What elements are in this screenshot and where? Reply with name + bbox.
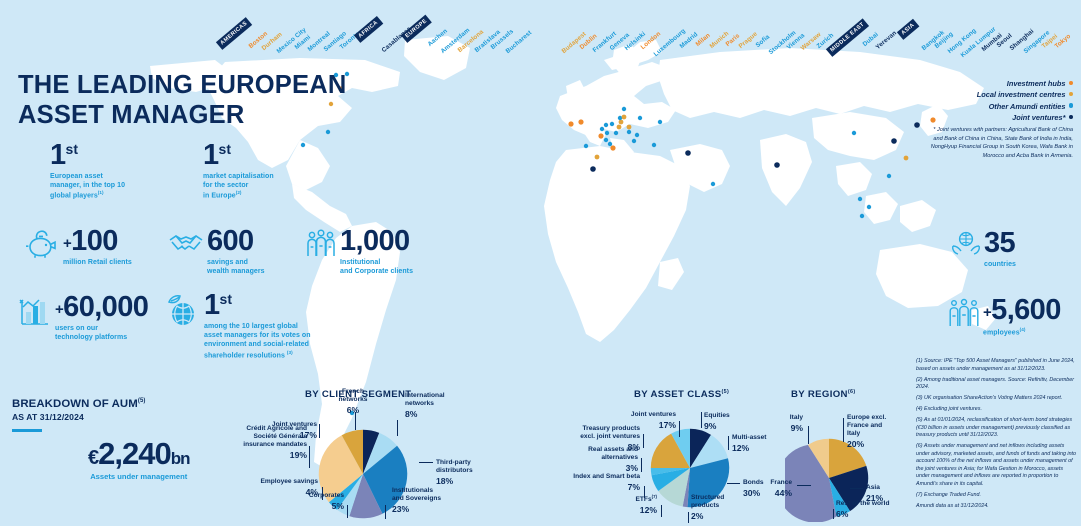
leader-line [319,424,320,438]
city-label: Prague [738,31,759,50]
handshake-icon [168,228,204,263]
leader-line [643,434,644,448]
footnotes: (1) Source: IPE "Top 500 Asset Managers"… [916,358,1078,514]
kpi-label: countries [984,260,1016,269]
kpi-technology-users: +60,000 users on ourtechnology platforms [18,294,148,342]
pie-label-etfs: ETFs(7)12% [609,494,657,515]
leader-line [728,436,729,450]
legend-label: Local investment centres [977,90,1066,99]
kpi-label: million Retail clients [63,258,132,267]
pie-label-index-smart-beta: Index and Smart beta7% [558,473,640,492]
kpi-european-asset-manager: 1st European assetmanager, in the top 10… [50,142,125,201]
pie-label-italy: Italy9% [757,414,803,433]
kpi-label: market capitalisationfor the sectorin Eu… [203,172,274,201]
legend-swatch-icon [1069,115,1074,120]
joint-ventures-note: * Joint ventures with partners: Agricult… [923,126,1073,160]
leader-line [641,458,642,472]
aum-total-value: €2,240bn [88,438,189,469]
kpi-employees: +5,600 employees(4) [948,297,1061,337]
footnote-1: (1) Source: IPE "Top 500 Asset Managers"… [916,358,1078,373]
infographic-canvas: AMERICAS Boston Durham Mexico City Miami… [0,0,1081,526]
bar-chart-icon [18,294,52,333]
pie-label-multi-asset: Multi-asset12% [732,434,766,453]
people-group-icon [305,228,337,265]
kpi-value: 1st [50,142,125,169]
leader-line [833,509,834,519]
kpi-value: 1,000 [340,228,413,255]
leader-line [727,483,740,484]
kpi-retail-clients: +100 million Retail clients [24,228,132,267]
aum-breakdown-subtitle: AS AT 31/12/2024 [12,412,145,422]
footnote-6: (6) Assets under management and net infl… [916,443,1078,488]
region-tag-americas: AMERICAS [216,17,252,49]
city-label: Yerevan [875,30,899,51]
employees-icon [948,297,980,334]
aum-total-caption: Assets under management [88,472,189,481]
pie-label-institutionals-sovereigns: Institutionalsand Sovereigns23% [392,487,441,514]
kpi-market-capitalisation: 1st market capitalisationfor the sectori… [203,142,274,201]
pie-label-europe-excl-france-italy: Europe excl.France andItaly20% [847,414,886,449]
source-line: Amundi data as at 31/12/2024. [916,503,1078,511]
kpi-label: users on ourtechnology platforms [55,324,148,343]
pie-label-equities: Equities9% [704,412,730,431]
kpi-label: employees(4) [983,327,1061,338]
page-title-line-1: THE LEADING EUROPEAN [18,70,346,100]
kpi-label: among the 10 largest globalasset manager… [204,322,311,361]
region-tag-asia: ASIA [897,19,919,40]
chart-title-asset-class: BY ASSET CLASS(5) [634,389,729,400]
title-rule [12,429,42,432]
kpi-savings-wealth-managers: 600 savings andwealth managers [168,228,265,276]
kpi-institutional-corporate-clients: 1,000 Institutionaland Corporate clients [305,228,413,276]
page-title: THE LEADING EUROPEAN ASSET MANAGER [18,70,346,130]
legend-item-local-investment-centres: Local investment centres [977,89,1073,100]
city-label-strip: AMERICAS Boston Durham Mexico City Miami… [0,0,1081,58]
kpi-value: +100 [63,228,132,255]
legend-label: Investment hubs [1007,79,1066,88]
leader-line [688,512,689,523]
leader-line [679,421,680,437]
pie-label-joint-ventures-asset: Joint ventures17% [606,411,676,430]
map-legend: Investment hubs Local investment centres… [977,78,1073,124]
leader-line [322,487,323,500]
kpi-label: Institutionaland Corporate clients [340,258,413,277]
pie-label-structured-products: Structuredproducts2% [691,494,724,521]
pie-label-french-networks: Frenchnetworks6% [325,388,381,415]
footnote-2: (2) Among traditional asset managers. So… [916,377,1078,392]
leader-line [644,486,645,498]
leader-line [850,488,863,489]
leader-line [843,418,844,442]
pie-label-joint-ventures-client: Joint ventures17% [247,421,317,440]
aum-total: €2,240bn Assets under management [88,438,189,481]
legend-swatch-icon [1069,92,1074,97]
page-title-line-2: ASSET MANAGER [18,100,346,130]
kpi-label: savings andwealth managers [207,258,265,277]
region-tag-africa: AFRICA [354,16,383,42]
kpi-value: 35 [984,230,1016,257]
footnote-7: (7) Exchange Traded Fund. [916,492,1078,500]
kpi-value: 1st [204,292,311,319]
aum-breakdown-header: BREAKDOWN OF AUM(5) AS AT 31/12/2024 [12,398,145,432]
leader-line [397,420,398,436]
leader-line [701,412,702,428]
leader-line [419,462,433,463]
pie-label-third-party-distributors: Third-partydistributors18% [436,459,473,486]
pie-label-rest-of-the-world: Rest of the world6% [836,500,889,519]
pie-label-international-networks: Internationalnetworks8% [405,392,445,419]
leader-line [661,505,662,517]
piggy-bank-icon [24,228,60,265]
kpi-value: +60,000 [55,294,148,321]
leader-line [309,446,310,468]
pie-label-employee-savings: Employee savings4% [243,478,318,497]
kpi-countries: 35 countries [951,230,1016,269]
pie-label-france: France44% [740,479,792,498]
aum-breakdown-title: BREAKDOWN OF AUM(5) [12,398,145,410]
legend-label: Joint ventures* [1012,113,1065,122]
globe-leaf-icon [163,292,201,333]
chart-title-region: BY REGION(6) [791,389,855,400]
legend-item-joint-ventures: Joint ventures* [977,112,1073,123]
legend-swatch-icon [1069,81,1074,86]
leader-line [347,505,348,518]
legend-item-investment-hubs: Investment hubs [977,78,1073,89]
footnote-4: (4) Excluding joint ventures. [916,406,1078,414]
kpi-esg-voting: 1st among the 10 largest globalasset man… [163,292,311,360]
leader-line [385,505,386,519]
kpi-value: 1st [203,142,274,169]
footnote-3: (3) UK organisation ShareAction's Voting… [916,395,1078,403]
legend-swatch-icon [1069,103,1074,108]
legend-label: Other Amundi entities [989,102,1066,111]
leader-line [797,485,811,486]
kpi-label: European assetmanager, in the top 10glob… [50,172,125,201]
globe-in-hands-icon [951,230,981,263]
kpi-value: +5,600 [983,297,1061,324]
leader-line [808,426,809,444]
kpi-value: 600 [207,228,265,255]
footnote-5: (5) As at 01/01/2024, reclassification o… [916,417,1078,440]
legend-item-other-amundi-entities: Other Amundi entities [977,101,1073,112]
